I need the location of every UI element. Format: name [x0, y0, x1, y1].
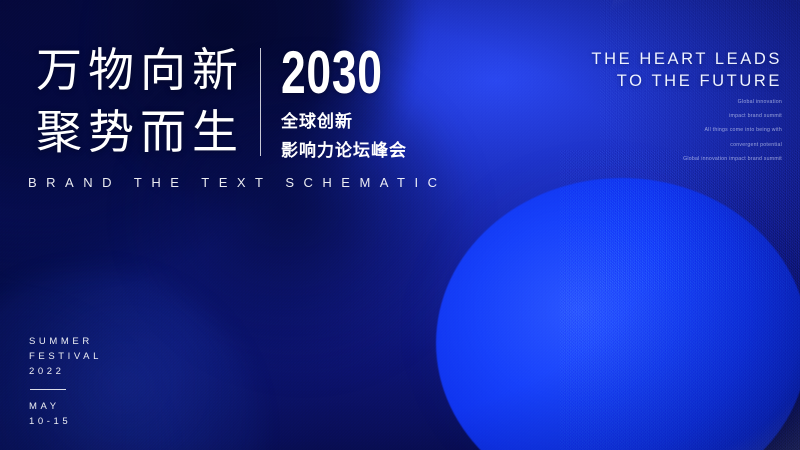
english-fineprint-block: Global innovation impact brand summit Al… [482, 99, 782, 163]
event-year: 2022 [29, 364, 102, 379]
brand-tagline: BRAND THE TEXT SCHEMATIC [28, 175, 446, 190]
english-fineprint-line: All things come into being with [482, 127, 782, 134]
english-slogan-block: THE HEART LEADS TO THE FUTURE Global inn… [482, 48, 782, 163]
event-date-block: SUMMER FESTIVAL 2022 MAY 10-15 [29, 334, 102, 429]
english-fineprint-line: convergent potential [482, 142, 782, 149]
event-dates-group: MAY 10-15 [29, 399, 102, 429]
event-name-group: SUMMER FESTIVAL 2022 [29, 334, 102, 379]
english-fineprint-line: impact brand summit [482, 113, 782, 120]
chinese-subtitle-line-1: 全球创新 [281, 110, 418, 133]
english-fineprint-line: Global innovation impact brand summit [482, 156, 782, 163]
headline-vertical-divider [260, 48, 261, 156]
poster-content: 万物向新 聚势而生 2030 全球创新 影响力论坛峰会 BRAND THE TE… [0, 0, 800, 450]
chinese-headline-line-1: 万物向新 [36, 40, 244, 102]
chinese-headline: 万物向新 聚势而生 [36, 40, 244, 164]
chinese-headline-line-2: 聚势而生 [36, 102, 244, 164]
event-name-line-1: SUMMER [29, 334, 102, 349]
event-day-range: 10-15 [29, 414, 102, 429]
chinese-subtitle-line-2: 影响力论坛峰会 [281, 139, 418, 162]
english-slogan-line-2: TO THE FUTURE [482, 70, 782, 92]
event-name-line-2: FESTIVAL [29, 349, 102, 364]
poster-canvas: 万物向新 聚势而生 2030 全球创新 影响力论坛峰会 BRAND THE TE… [0, 0, 800, 450]
headline-block: 万物向新 聚势而生 2030 全球创新 影响力论坛峰会 [36, 40, 418, 164]
year-and-subtitle-block: 2030 全球创新 影响力论坛峰会 [281, 40, 418, 162]
year-label: 2030 [281, 42, 383, 104]
event-month: MAY [29, 399, 102, 414]
english-slogan-line-1: THE HEART LEADS [482, 48, 782, 70]
english-fineprint-line: Global innovation [482, 99, 782, 106]
date-divider-rule [30, 389, 66, 390]
